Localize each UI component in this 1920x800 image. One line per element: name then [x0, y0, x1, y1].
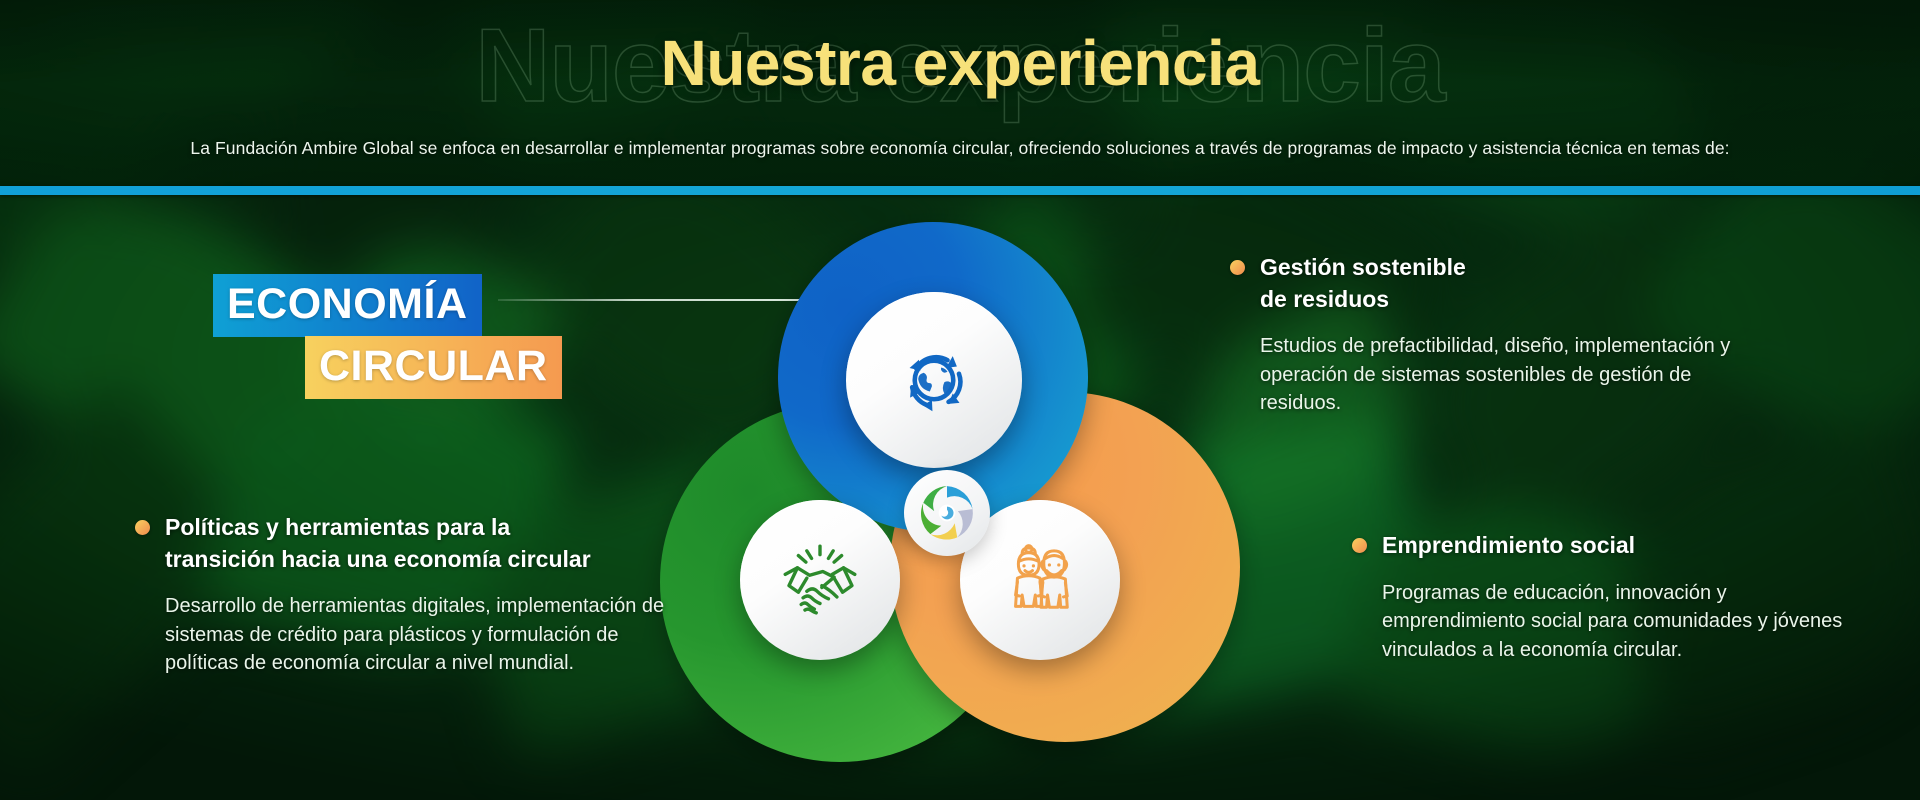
waste-heading: Gestión sostenible de residuos [1230, 252, 1750, 315]
waste-body: Estudios de prefactibilidad, diseño, imp… [1230, 332, 1750, 417]
handshake-bubble[interactable] [740, 500, 900, 660]
social-heading: Emprendimiento social [1352, 530, 1852, 562]
waste-heading-line2: de residuos [1260, 286, 1389, 312]
badge-line-economia: ECONOMÍA [213, 274, 482, 337]
social-body: Programas de educación, innovación y emp… [1352, 579, 1852, 664]
policy-body: Desarrollo de herramientas digitales, im… [135, 592, 695, 677]
block-social-entrepreneurship: Emprendimiento social Programas de educa… [1352, 530, 1852, 664]
bullet-dot-icon [1230, 260, 1245, 275]
infographic-canvas: Nuestra experiencia Nuestra experiencia … [0, 0, 1920, 800]
page-subtitle: La Fundación Ambire Global se enfoca en … [0, 138, 1920, 159]
policy-heading-line1: Políticas y herramientas para la [165, 514, 510, 540]
bullet-dot-icon [135, 520, 150, 535]
recycle-globe-bubble[interactable] [846, 292, 1022, 468]
ambire-center-logo[interactable] [904, 470, 990, 556]
economia-circular-badge: ECONOMÍA CIRCULAR [213, 274, 573, 399]
venn-diagram [660, 222, 1280, 762]
header-divider [0, 186, 1920, 195]
recycle-globe-icon [882, 328, 986, 432]
bullet-dot-icon [1352, 538, 1367, 553]
badge-line-circular: CIRCULAR [305, 336, 562, 399]
block-policy-tools: Políticas y herramientas para la transic… [135, 512, 695, 678]
waste-heading-line1: Gestión sostenible [1260, 254, 1466, 280]
policy-heading: Políticas y herramientas para la transic… [135, 512, 695, 575]
block-waste-management: Gestión sostenible de residuos Estudios … [1230, 252, 1750, 418]
handshake-icon [773, 533, 867, 627]
page-title: Nuestra experiencia [0, 28, 1920, 98]
people-icon [993, 533, 1087, 627]
policy-heading-line2: transición hacia una economía circular [165, 546, 591, 572]
ambire-swirl-logo [915, 481, 979, 545]
social-heading-line1: Emprendimiento social [1382, 532, 1635, 558]
